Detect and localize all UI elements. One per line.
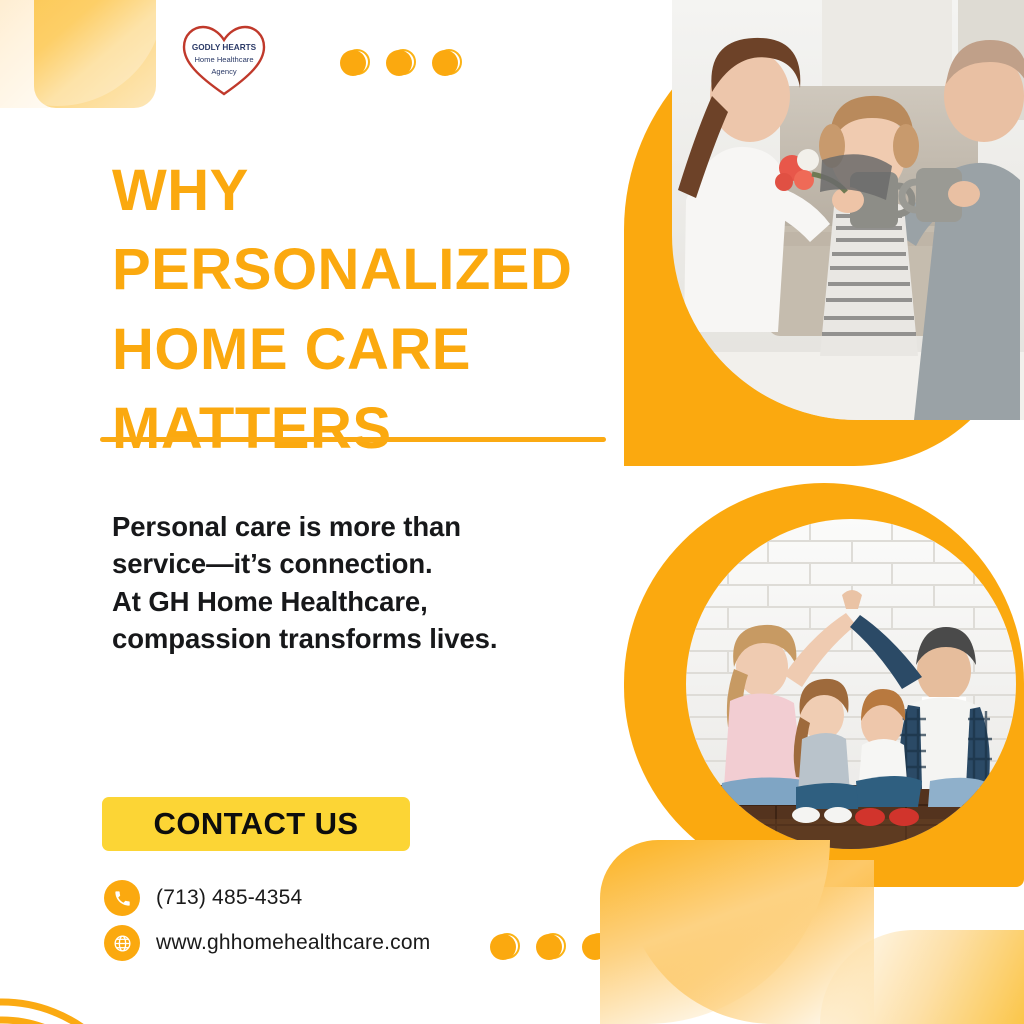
image-mask-bottom xyxy=(686,519,1016,849)
brand-logo: GODLY HEARTS Home Healthcare Agency xyxy=(178,20,270,100)
page-title: WHY PERSONALIZED HOME CARE MATTERS xyxy=(112,151,617,469)
contact-website-row[interactable]: www.ghhomehealthcare.com xyxy=(104,925,430,961)
decorative-arcs xyxy=(0,892,146,1024)
photo-family-roof xyxy=(686,519,1016,849)
hero-image-bottom xyxy=(624,477,1024,1024)
body-line-3: At GH Home Healthcare, xyxy=(112,583,612,620)
poster-canvas: GODLY HEARTS Home Healthcare Agency WHY … xyxy=(0,0,1024,1024)
photo-family-mugs xyxy=(672,0,1024,420)
decor-dot xyxy=(490,933,518,961)
contact-us-button[interactable]: CONTACT US xyxy=(102,797,410,851)
image-mask-top xyxy=(672,0,1024,420)
decor-dot xyxy=(340,49,368,77)
decor-dot xyxy=(536,933,564,961)
headline-line-4: MATTERS xyxy=(112,389,617,468)
decorative-dots-top xyxy=(340,49,460,77)
headline-line-3: HOME CARE xyxy=(112,310,617,389)
logo-line-3: Agency xyxy=(211,67,237,76)
corner-square-shape xyxy=(34,0,156,108)
headline-line-1: WHY xyxy=(112,151,617,230)
logo-line-2: Home Healthcare xyxy=(194,55,253,64)
body-line-2: service—it’s connection. xyxy=(112,545,612,582)
body-line-4: compassion transforms lives. xyxy=(112,620,612,657)
website-url: www.ghhomehealthcare.com xyxy=(156,931,430,955)
hero-image-top xyxy=(624,0,1024,466)
headline-divider xyxy=(100,437,606,442)
decor-dot xyxy=(582,933,610,961)
decor-dot xyxy=(432,49,460,77)
decorative-dots-bottom xyxy=(490,933,610,961)
phone-number: (713) 485-4354 xyxy=(156,886,302,910)
headline-line-2: PERSONALIZED xyxy=(112,230,617,309)
body-copy: Personal care is more than service—it’s … xyxy=(112,508,612,658)
body-line-1: Personal care is more than xyxy=(112,508,612,545)
decor-dot xyxy=(386,49,414,77)
logo-line-1: GODLY HEARTS xyxy=(192,43,257,52)
